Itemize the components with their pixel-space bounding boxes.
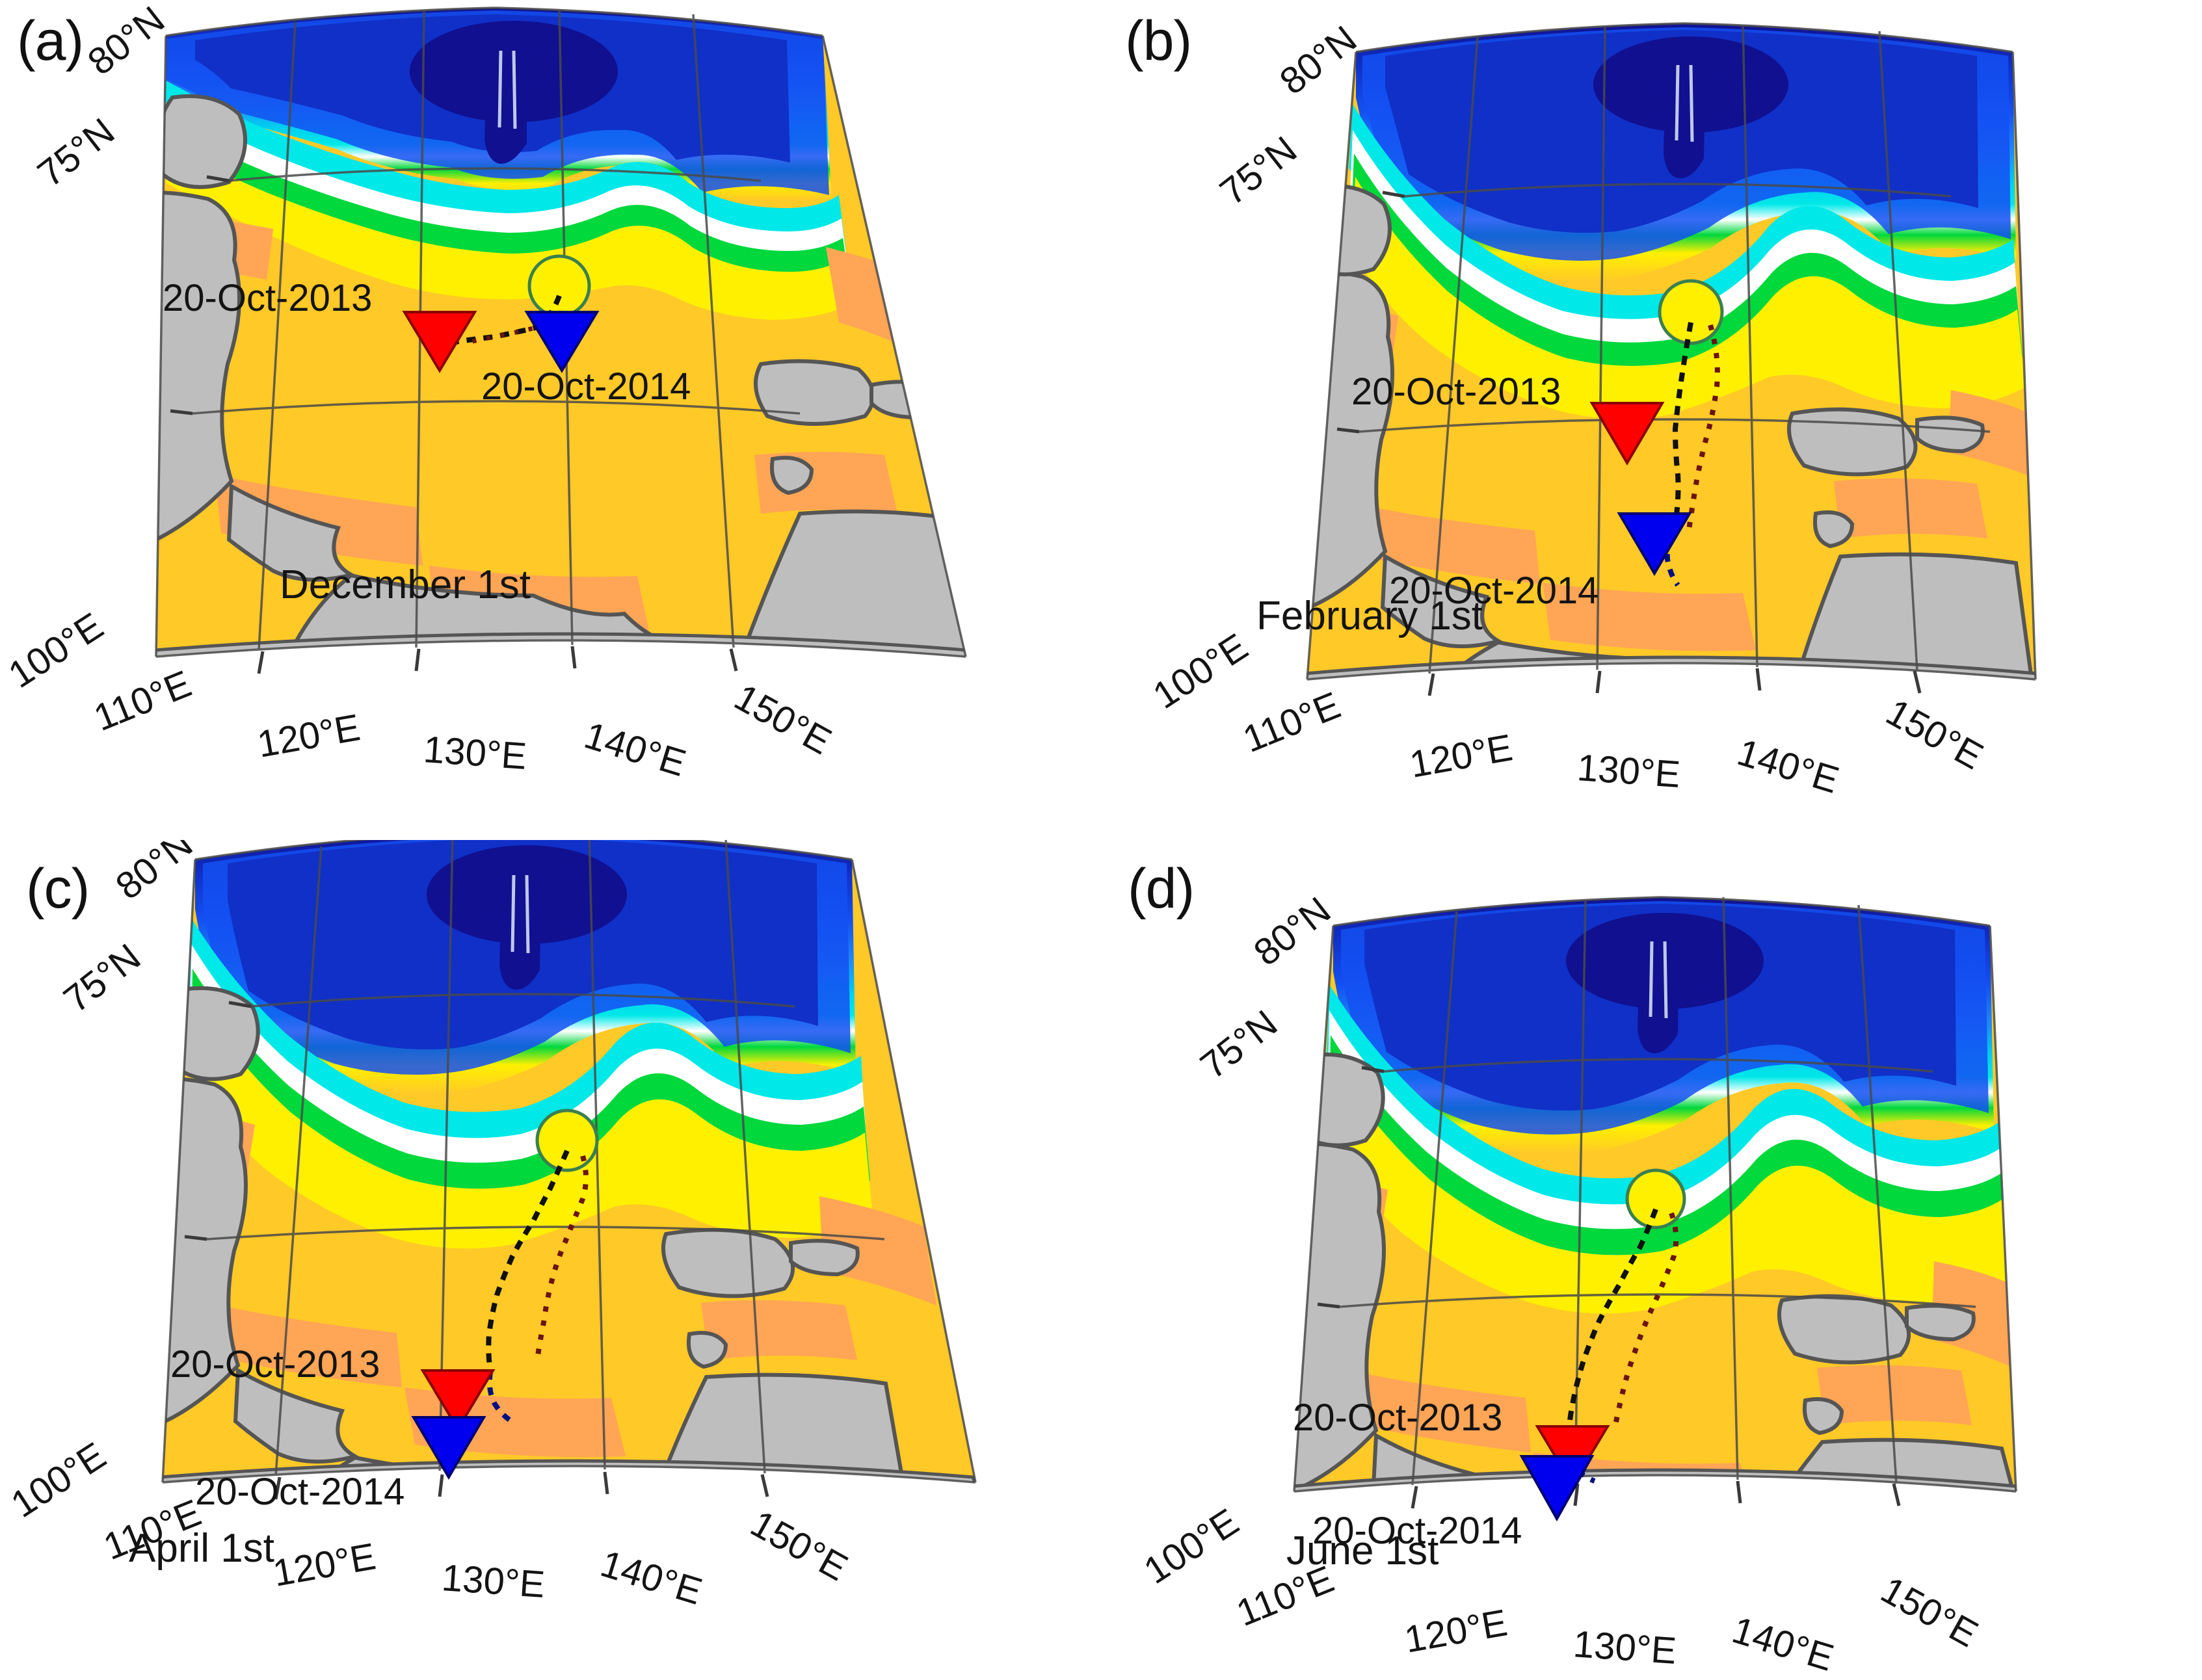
panel-d-lon-130-label: 130°E — [1572, 1623, 1678, 1672]
panel-b-start-date-label: 20-Oct-2013 — [1351, 371, 1561, 413]
panel-d-map: 20-Oct-2013 20-Oct-2014 June 1st 80°N 75… — [1106, 840, 2202, 1680]
panel-a-lon-130-label: 130°E — [422, 728, 528, 778]
panel-c-end-date-label: 20-Oct-2014 — [195, 1471, 405, 1513]
panel-a: (a) — [0, 0, 1106, 840]
panel-c: (c) — [0, 840, 1106, 1680]
panel-c-map: 20-Oct-2013 20-Oct-2014 April 1st 80°N 7… — [0, 840, 1106, 1680]
panel-a-lon-110-label: 110°E — [88, 663, 197, 739]
panel-d-lon-150-label: 150°E — [1874, 1569, 1985, 1656]
panel-c-lon-100-label: 100°E — [4, 1434, 113, 1526]
panel-c-field — [137, 840, 1021, 1516]
panel-d-lon-110-label: 110°E — [1231, 1558, 1340, 1634]
panel-c-lon-150-label: 150°E — [744, 1503, 855, 1590]
panel-b-lon-140-label: 140°E — [1732, 731, 1844, 802]
panel-a-lon-100-label: 100°E — [1, 605, 111, 696]
panel-c-lon-140-label: 140°E — [596, 1542, 707, 1613]
panel-a-month-label: December 1st — [280, 562, 531, 607]
panel-d-lon-100-label: 100°E — [1137, 1501, 1246, 1592]
panel-c-start-date-label: 20-Oct-2013 — [170, 1343, 380, 1385]
panel-b-lon-100-label: 100°E — [1146, 625, 1255, 717]
panel-a-lat-80-label: 80°N — [80, 0, 172, 83]
panel-a-map: 20-Oct-2013 20-Oct-2014 December 1st 80°… — [0, 0, 1106, 840]
panel-c-lon-130-label: 130°E — [440, 1556, 546, 1606]
panel-c-lat-80-label: 80°N — [108, 840, 200, 908]
panel-b-lon-120-label: 120°E — [1407, 726, 1516, 786]
panel-d: (d) — [1106, 840, 2202, 1680]
panel-b-lon-150-label: 150°E — [1879, 691, 1990, 778]
panel-b-map: 20-Oct-2013 20-Oct-2014 February 1st 80°… — [1106, 0, 2202, 840]
panel-d-lon-120-label: 120°E — [1401, 1601, 1511, 1661]
panel-b-lon-130-label: 130°E — [1576, 746, 1682, 796]
panel-a-end-date-label: 20-Oct-2014 — [481, 365, 691, 408]
panel-b-lat-75-label: 75°N — [1212, 128, 1305, 213]
panel-a-lon-120-label: 120°E — [254, 706, 364, 766]
panel-d-lat-80-label: 80°N — [1246, 889, 1338, 974]
panel-b-lon-110-label: 110°E — [1238, 684, 1346, 761]
panel-a-lon-140-label: 140°E — [579, 714, 691, 785]
panel-a-lat-75-label: 75°N — [30, 110, 122, 195]
panel-d-lon-140-label: 140°E — [1727, 1608, 1838, 1679]
panel-c-lon-120-label: 120°E — [270, 1535, 379, 1595]
figure-grid: (a) — [0, 0, 2202, 1680]
panel-c-lat-75-label: 75°N — [56, 936, 148, 1021]
panel-b: (b) — [1106, 0, 2202, 840]
panel-b-month-label: February 1st — [1256, 594, 1483, 638]
panel-a-start-date-label: 20-Oct-2013 — [163, 277, 372, 319]
panel-d-start-date-label: 20-Oct-2013 — [1293, 1397, 1502, 1439]
panel-d-lat-75-label: 75°N — [1193, 1002, 1285, 1087]
panel-b-lat-80-label: 80°N — [1272, 18, 1364, 103]
panel-a-lon-150-label: 150°E — [728, 676, 838, 763]
